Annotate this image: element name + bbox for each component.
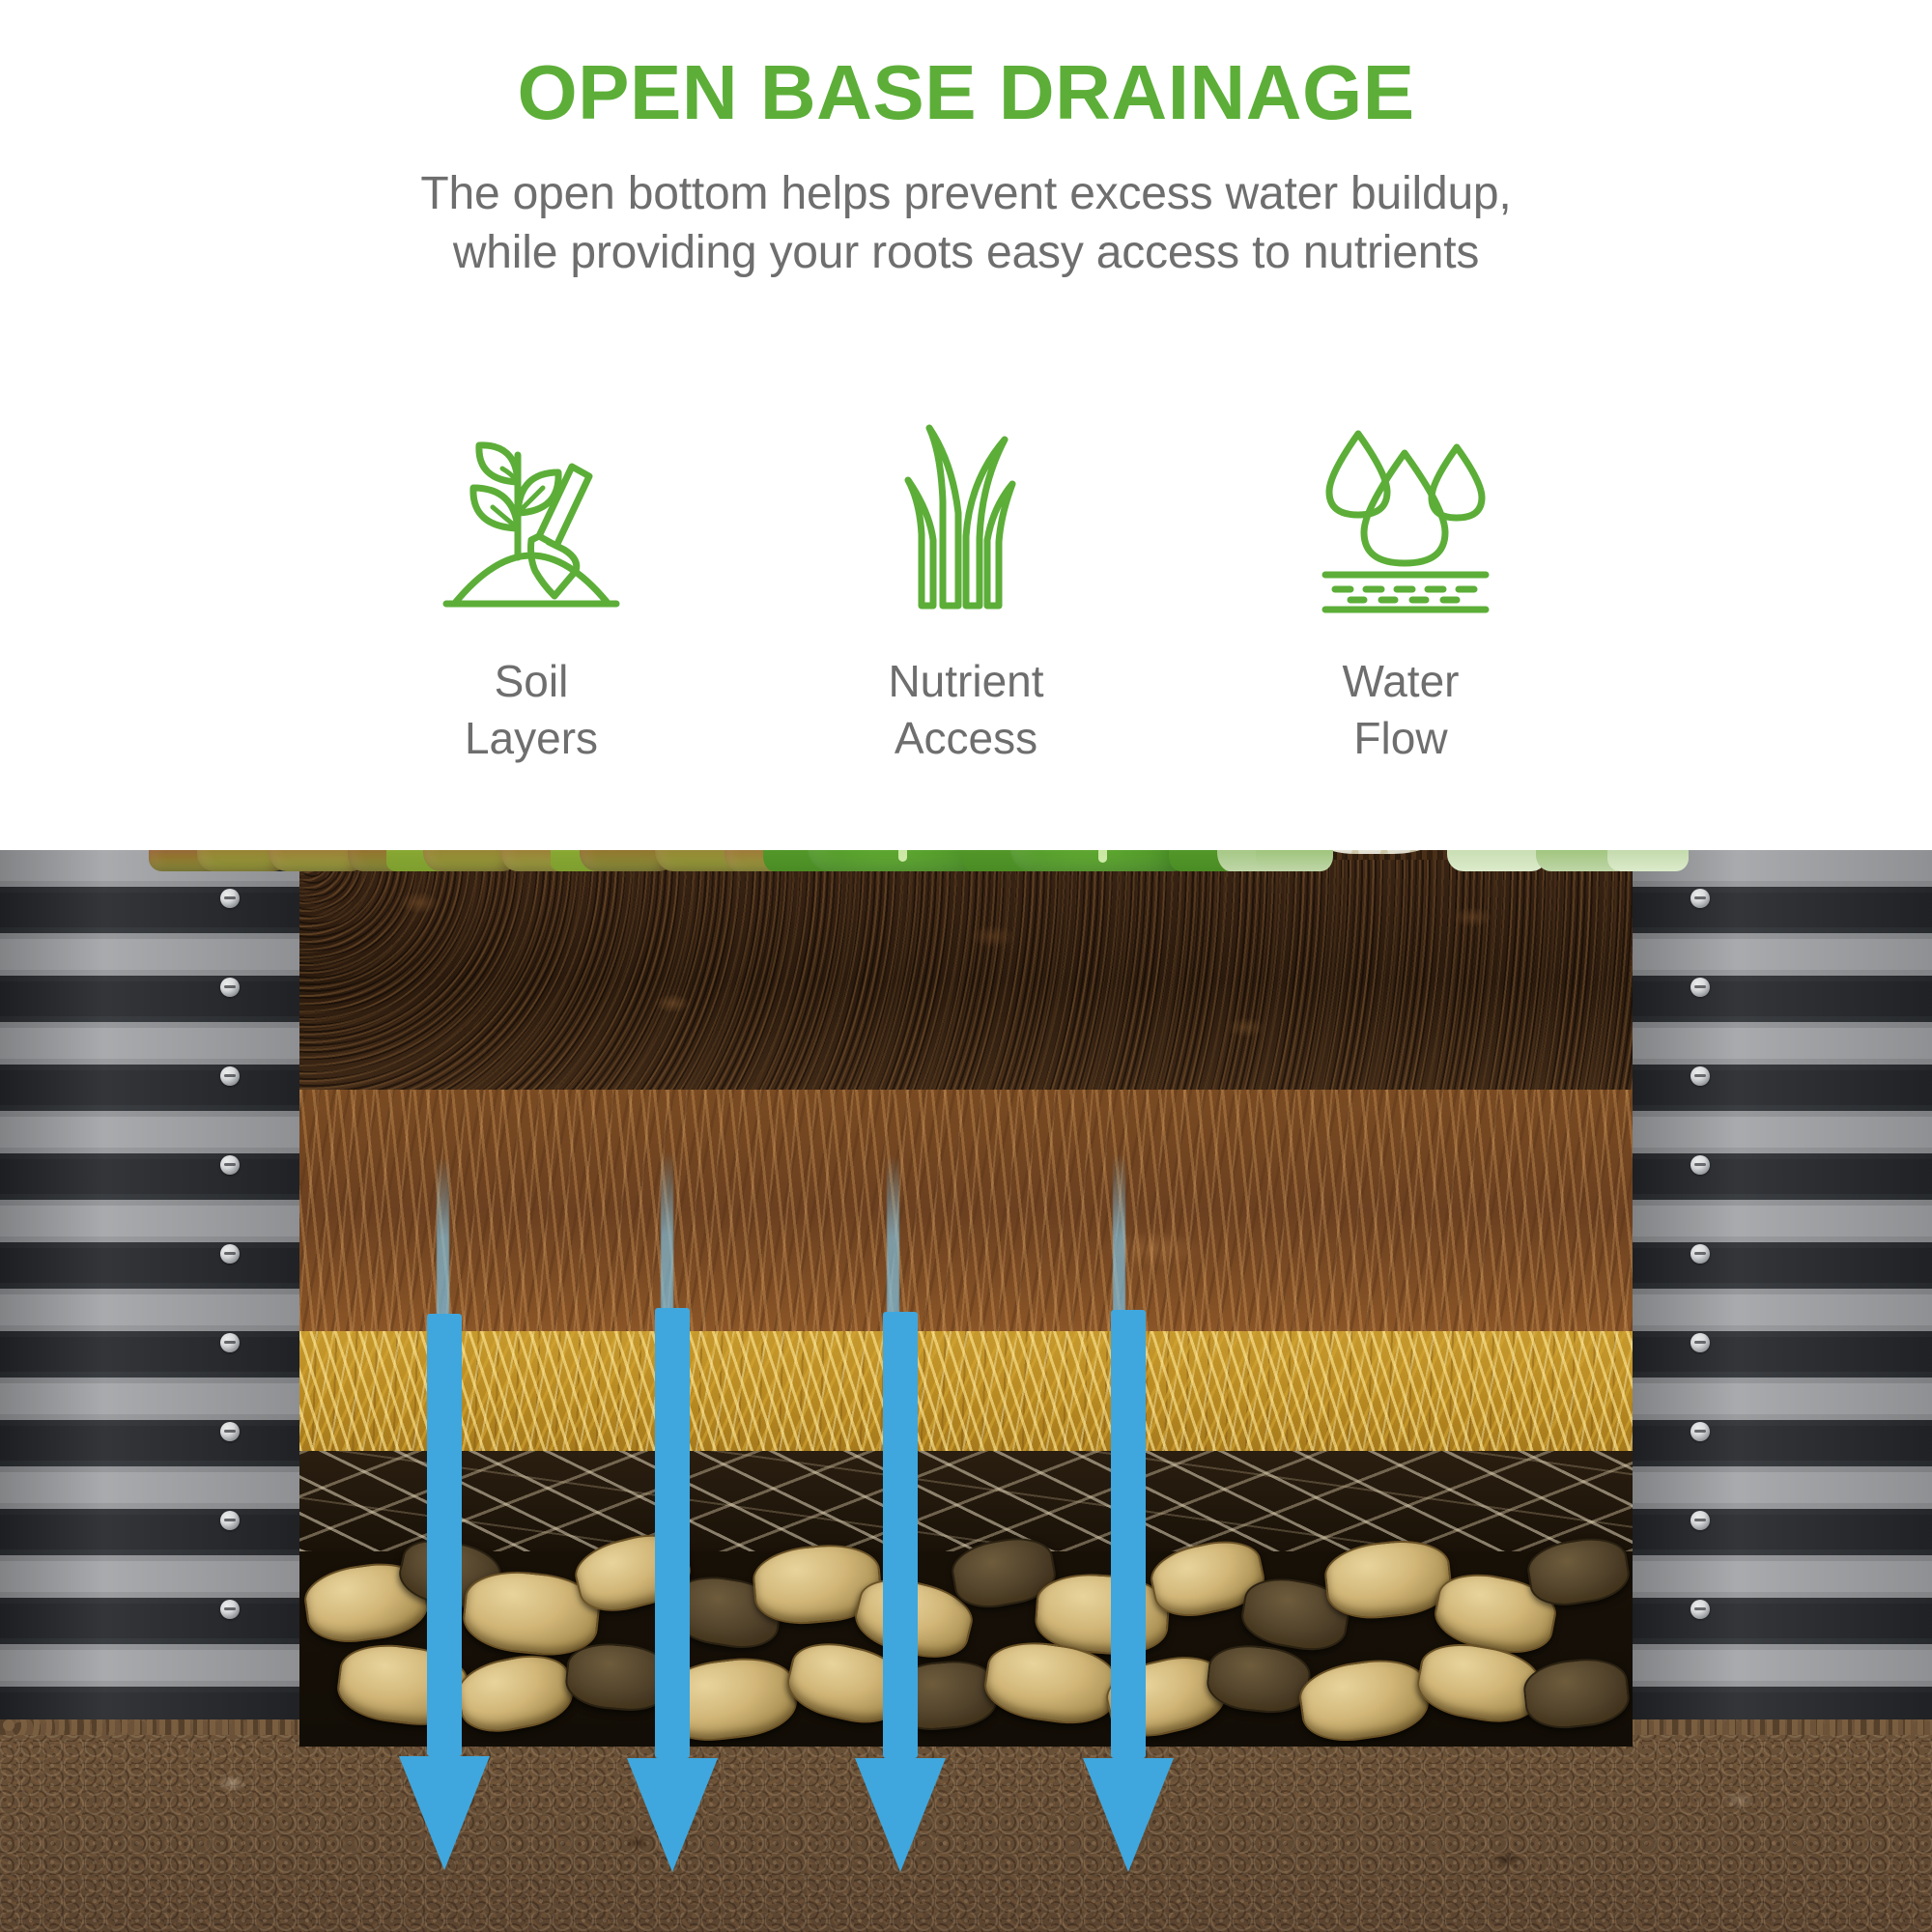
native-ground-soil xyxy=(0,1719,1932,1932)
log xyxy=(1295,1653,1433,1747)
screw xyxy=(220,1155,240,1175)
page-subtitle: The open bottom helps prevent excess wat… xyxy=(0,164,1932,283)
feature-water-flow: Water Flow xyxy=(1256,415,1546,767)
arrow-shaft xyxy=(1111,1310,1146,1758)
feature-nutrient-access: Nutrient Access xyxy=(821,415,1111,767)
subtitle-line-2: while providing your roots easy access t… xyxy=(0,223,1932,282)
arrow-head xyxy=(627,1758,718,1872)
soil-layer-compost-topsoil xyxy=(299,850,1633,1090)
plant-with-shovel-in-soil-icon xyxy=(435,415,628,618)
feature-label-line-1: Water xyxy=(1343,653,1460,710)
arrow-shaft xyxy=(427,1314,462,1756)
screw xyxy=(220,1511,240,1530)
water-flow-arrow xyxy=(1070,1310,1186,1872)
feature-nutrient-access-label: Nutrient Access xyxy=(888,653,1043,767)
arrow-shaft xyxy=(655,1308,690,1758)
cauliflower-leaf xyxy=(1256,850,1333,871)
log xyxy=(1523,1532,1633,1610)
cauliflower-group xyxy=(1217,850,1690,871)
feature-soil-layers: Soil Layers xyxy=(386,415,676,767)
screw xyxy=(220,1333,240,1352)
screw xyxy=(1690,1600,1710,1619)
header: OPEN BASE DRAINAGE The open bottom helps… xyxy=(0,0,1932,283)
screw xyxy=(1690,1155,1710,1175)
feature-label-line-1: Soil xyxy=(465,653,598,710)
subtitle-line-1: The open bottom helps prevent excess wat… xyxy=(0,164,1932,223)
green-cabbage-group xyxy=(763,850,1265,871)
screw-column-left xyxy=(220,850,240,1719)
feature-label-line-2: Flow xyxy=(1343,710,1460,767)
screw xyxy=(1690,1066,1710,1086)
screw xyxy=(1690,1333,1710,1352)
screw xyxy=(220,889,240,908)
leaf-vein xyxy=(1098,850,1107,863)
grass-blades-icon xyxy=(869,415,1063,618)
arrow-head xyxy=(1083,1758,1174,1872)
planter-wall-right xyxy=(1633,850,1932,1719)
water-flow-arrow xyxy=(842,1312,958,1872)
raised-bed-cutaway-illustration xyxy=(0,850,1932,1932)
water-flow-arrow xyxy=(614,1308,730,1872)
water-droplets-over-permeable-ground-icon xyxy=(1304,415,1497,618)
red-leaf-lettuce-group xyxy=(145,850,782,871)
leaf-vein xyxy=(898,850,907,862)
vegetable-row xyxy=(145,850,1690,871)
infographic-canvas: OPEN BASE DRAINAGE The open bottom helps… xyxy=(0,0,1932,1932)
screw xyxy=(1690,1422,1710,1441)
screw xyxy=(1690,1511,1710,1530)
arrow-head xyxy=(855,1758,946,1872)
log xyxy=(1521,1655,1633,1733)
feature-row: Soil Layers Nutrient Acces xyxy=(0,415,1932,767)
page-title: OPEN BASE DRAINAGE xyxy=(0,0,1932,131)
screw xyxy=(1690,978,1710,997)
screw xyxy=(220,1244,240,1264)
feature-label-line-1: Nutrient xyxy=(888,653,1043,710)
planter-wall-left xyxy=(0,850,299,1719)
green-cabbage-head xyxy=(1010,850,1194,871)
soil-layer-coir-mulch xyxy=(299,1090,1633,1331)
screw xyxy=(220,1600,240,1619)
arrow-head xyxy=(399,1756,490,1870)
feature-label-line-2: Access xyxy=(888,710,1043,767)
screw xyxy=(1690,889,1710,908)
cauliflower-leaf xyxy=(1447,850,1548,871)
water-flow-arrow xyxy=(386,1314,502,1870)
screw xyxy=(220,978,240,997)
cauliflower-leaf xyxy=(1607,850,1689,871)
screw-column-right xyxy=(1690,850,1710,1719)
feature-label-line-2: Layers xyxy=(465,710,598,767)
screw xyxy=(1690,1244,1710,1264)
arrow-shaft xyxy=(883,1312,918,1758)
feature-soil-layers-label: Soil Layers xyxy=(465,653,598,767)
screw xyxy=(220,1422,240,1441)
feature-water-flow-label: Water Flow xyxy=(1343,653,1460,767)
screw xyxy=(220,1066,240,1086)
